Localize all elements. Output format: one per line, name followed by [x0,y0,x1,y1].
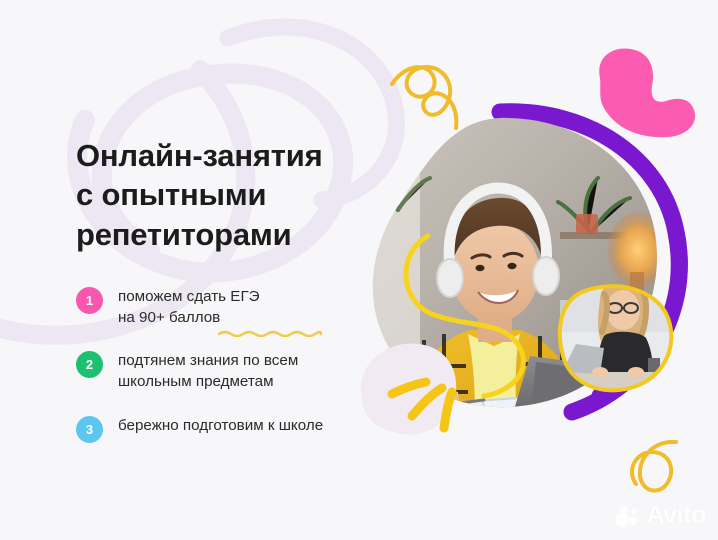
list-item-label: поможем сдать ЕГЭ на 90+ баллов [118,286,260,328]
list-item: 3 бережно подготовим к школе [76,415,406,445]
page-title: Онлайн-занятия с опытными репетиторами [76,136,376,254]
list-item: 2 подтянем знания по всем школьным предм… [76,350,406,392]
avito-wordmark: Avito [646,501,706,530]
list-item-label: бережно подготовим к школе [118,415,323,437]
promo-banner: Онлайн-занятия с опытными репетиторами 1… [0,0,718,540]
avito-watermark: Avito [613,501,706,530]
badge-number-2: 2 [76,351,103,378]
yellow-squiggle-bottom [0,0,718,540]
list-item-label: подтянем знания по всем школьным предмет… [118,350,298,392]
badge-number-3: 3 [76,416,103,443]
list-item: 1 поможем сдать ЕГЭ на 90+ баллов [76,286,406,328]
badge-number-1: 1 [76,287,103,314]
benefit-list: 1 поможем сдать ЕГЭ на 90+ баллов 2 подт… [76,286,406,445]
wavy-underline [218,330,322,337]
avito-logo-icon [613,504,641,528]
